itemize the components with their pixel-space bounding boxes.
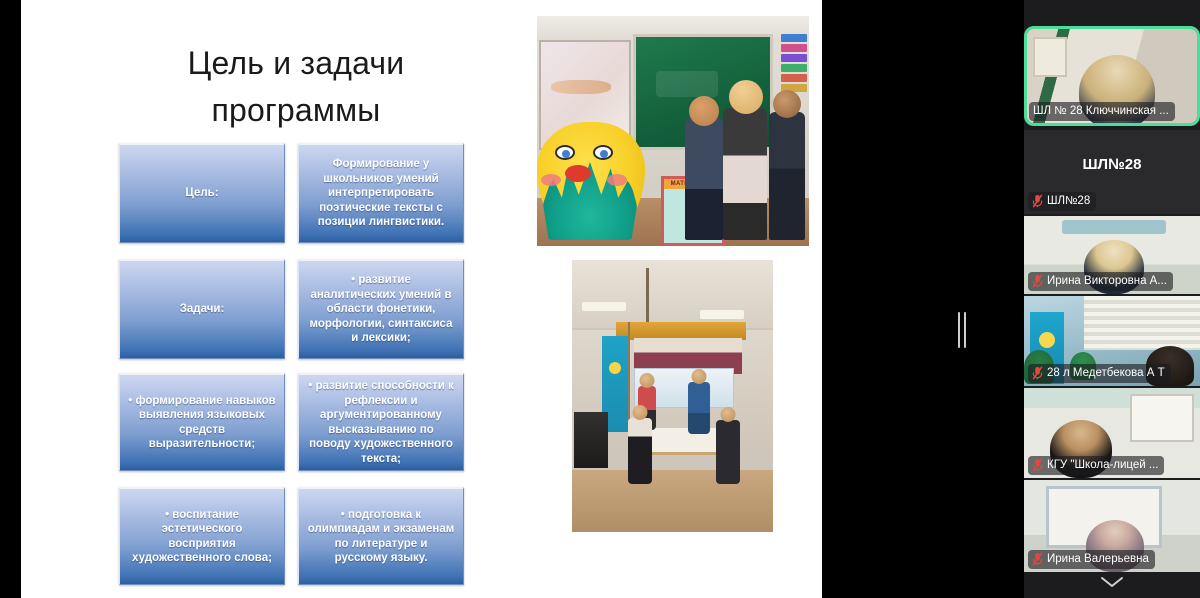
participant-name: 28 л Медетбекова А Т: [1047, 365, 1165, 381]
participant-name: Ирина Викторовна А...: [1047, 273, 1167, 289]
smartart-box-tasks-label: Задачи:: [128, 302, 276, 317]
chevron-down-icon[interactable]: [1024, 570, 1200, 594]
participant-name-chip: ШЛ № 28 Ключчинская ...: [1029, 102, 1175, 121]
participant-filmstrip[interactable]: ШЛ № 28 Ключчинская ... ШЛ№28 ШЛ№28: [1024, 0, 1200, 598]
meeting-screen-share-view: Цель и задачи программы Цель: Задачи: • …: [0, 0, 1200, 598]
piano: [574, 412, 608, 468]
smartart-box-analytic-label: • развитие аналитических умений в област…: [307, 273, 455, 346]
table: [640, 428, 726, 452]
vegetable-mascot-prop: [537, 122, 645, 238]
page-title: Цель и задачи программы: [81, 40, 511, 134]
student-figure: [723, 108, 767, 240]
shared-content-stage: Цель и задачи программы Цель: Задачи: • …: [0, 0, 1024, 598]
participant-tile-no-video[interactable]: ШЛ№28 ШЛ№28: [1024, 130, 1200, 214]
participant-name-chip: Ирина Валерьевна: [1028, 550, 1155, 569]
smartart-box-skills: • формирование навыков выявления языковы…: [119, 373, 285, 471]
participant-name-chip: Ирина Викторовна А...: [1028, 272, 1173, 291]
smartart-box-goal-text-label: Формирование у школьников умений интерпр…: [307, 157, 455, 230]
presentation-slide: Цель и задачи программы Цель: Задачи: • …: [21, 0, 822, 598]
participant-tile-active-speaker[interactable]: ШЛ № 28 Ключчинская ...: [1024, 26, 1200, 126]
participant-tile[interactable]: Ирина Валерьевна: [1024, 480, 1200, 572]
smartart-box-aesthetic-label: • воспитание эстетического восприятия ху…: [128, 508, 276, 566]
smartart-box-olympiad: • подготовка к олимпиадам и экзаменам по…: [298, 487, 464, 585]
participant-tile[interactable]: Ирина Викторовна А...: [1024, 216, 1200, 294]
participant-name: ШЛ № 28 Ключчинская ...: [1033, 103, 1169, 119]
participant-name-chip: ШЛ№28: [1028, 192, 1096, 211]
participant-tile[interactable]: КГУ "Школа-лицей ...: [1024, 388, 1200, 478]
panel-resize-handle[interactable]: [952, 300, 972, 360]
participant-tile[interactable]: 28 л Медетбекова А Т: [1024, 296, 1200, 386]
smartart-box-goal-text: Формирование у школьников умений интерпр…: [298, 143, 464, 243]
participant-name: Ирина Валерьевна: [1047, 551, 1149, 567]
smartart-box-tasks: Задачи:: [119, 259, 285, 359]
person-figure: [716, 420, 740, 484]
microphone-muted-icon: [1032, 552, 1043, 566]
page-title-line-2: программы: [81, 87, 511, 134]
page-title-line-1: Цель и задачи: [81, 40, 511, 87]
student-figure: [685, 118, 723, 240]
microphone-muted-icon: [1032, 274, 1043, 288]
microphone-muted-icon: [1032, 458, 1043, 472]
student-figure: [769, 112, 805, 240]
participant-name: КГУ "Школа-лицей ...: [1047, 457, 1158, 473]
person-figure: [628, 418, 652, 484]
smartart-box-goal: Цель:: [119, 143, 285, 243]
person-figure: [688, 382, 710, 434]
smartart-box-reflect: • развитие способности к рефлексии и арг…: [298, 373, 464, 471]
participant-name-chip: 28 л Медетбекова А Т: [1028, 364, 1171, 383]
smartart-box-reflect-label: • развитие способности к рефлексии и арг…: [307, 379, 455, 466]
smartart-box-aesthetic: • воспитание эстетического восприятия ху…: [119, 487, 285, 585]
book-shelf: [781, 34, 807, 88]
photo-classroom-lesson: МАТЕМАТИКА: [537, 16, 809, 246]
participant-display-name: ШЛ№28: [1024, 156, 1200, 173]
smartart-box-olympiad-label: • подготовка к олимпиадам и экзаменам по…: [307, 508, 455, 566]
smartart-box-goal-label: Цель:: [128, 186, 276, 201]
smartart-box-analytic: • развитие аналитических умений в област…: [298, 259, 464, 359]
photo-assembly-hall: [572, 260, 773, 532]
smartart-box-skills-label: • формирование навыков выявления языковы…: [128, 394, 276, 452]
participant-name: ШЛ№28: [1047, 193, 1090, 209]
participant-name-chip: КГУ "Школа-лицей ...: [1028, 456, 1164, 475]
microphone-muted-icon: [1032, 194, 1043, 208]
microphone-muted-icon: [1032, 366, 1043, 380]
